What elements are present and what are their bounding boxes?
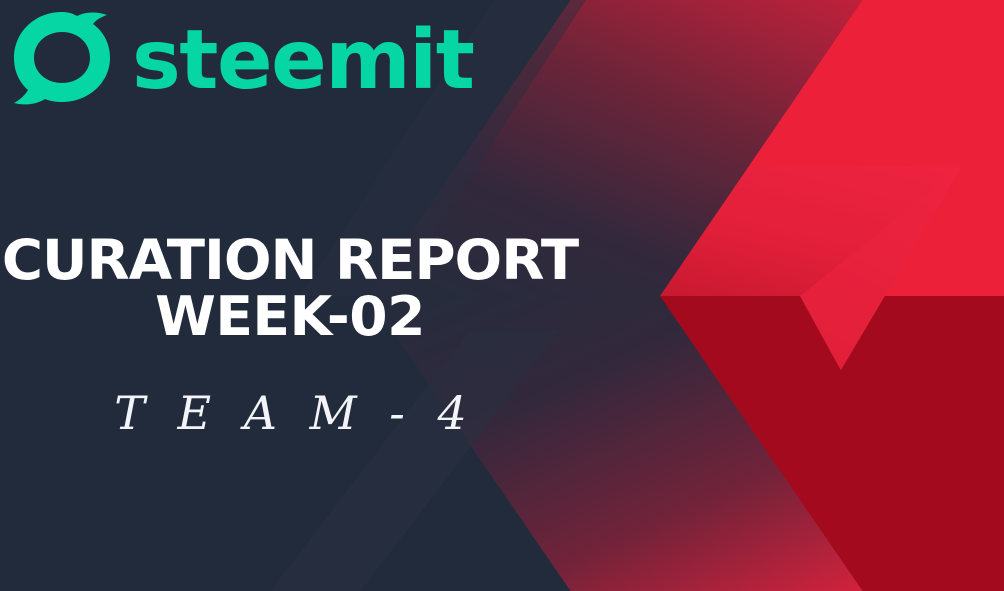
steemit-wordmark: steemit: [132, 20, 473, 102]
title-line-1: CURATION REPORT: [0, 232, 586, 288]
title-line-2: WEEK-02: [0, 289, 586, 345]
steemit-speech-bubble-logo: [8, 8, 116, 112]
page-title: CURATION REPORT WEEK-02: [0, 232, 580, 345]
curation-report-banner: steemit CURATION REPORT WEEK-02 T E A M …: [0, 0, 1004, 591]
team-subtitle: T E A M - 4: [0, 386, 590, 440]
steemit-logo: steemit: [8, 8, 473, 112]
